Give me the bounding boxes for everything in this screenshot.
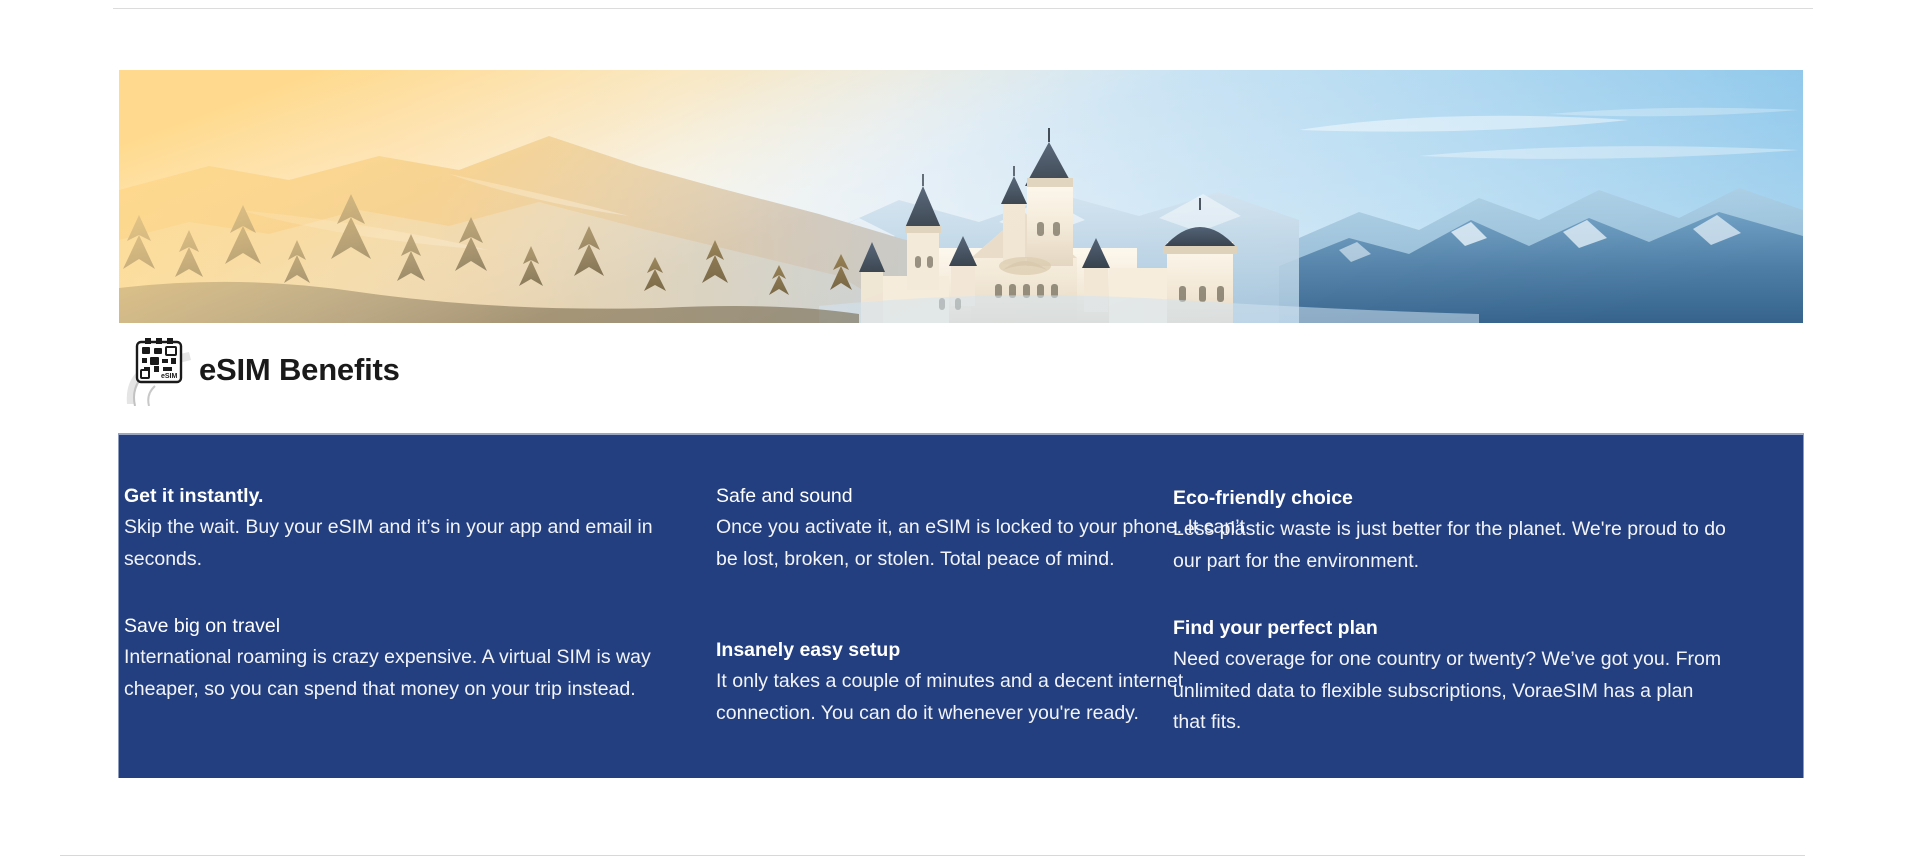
section-header: eSIM eSIM Benefits <box>119 334 400 406</box>
page-title: eSIM Benefits <box>199 352 400 388</box>
benefit-heading: Get it instantly. <box>124 481 694 512</box>
svg-text:eSIM: eSIM <box>161 373 178 380</box>
benefits-panel: Get it instantly. Skip the wait. Buy you… <box>118 433 1804 778</box>
benefit-item: Find your perfect plan Need coverage for… <box>1173 613 1731 739</box>
benefit-body: Less plastic waste is just better for th… <box>1173 514 1728 577</box>
hero-illustration <box>119 70 1803 323</box>
document-page: eSIM eSIM Benefits Get it instantly. Ski… <box>0 0 1920 866</box>
esim-icon-glyph: eSIM <box>121 334 205 406</box>
top-divider <box>113 8 1813 9</box>
benefit-heading: Save big on travel <box>124 611 696 642</box>
benefit-item: Save big on travel International roaming… <box>124 611 696 705</box>
benefit-heading: Find your perfect plan <box>1173 613 1731 644</box>
benefit-body: Skip the wait. Buy your eSIM and it’s in… <box>124 512 694 575</box>
hero-banner-image <box>119 70 1803 323</box>
benefit-heading: Eco-friendly choice <box>1173 483 1728 514</box>
benefit-body: International roaming is crazy expensive… <box>124 642 696 705</box>
benefit-item: Eco-friendly choice Less plastic waste i… <box>1173 483 1728 577</box>
benefit-item: Get it instantly. Skip the wait. Buy you… <box>124 481 694 575</box>
benefit-body: Need coverage for one country or twenty?… <box>1173 644 1731 739</box>
esim-card-in-hand-icon: eSIM <box>121 334 205 406</box>
bottom-divider <box>60 855 1805 856</box>
